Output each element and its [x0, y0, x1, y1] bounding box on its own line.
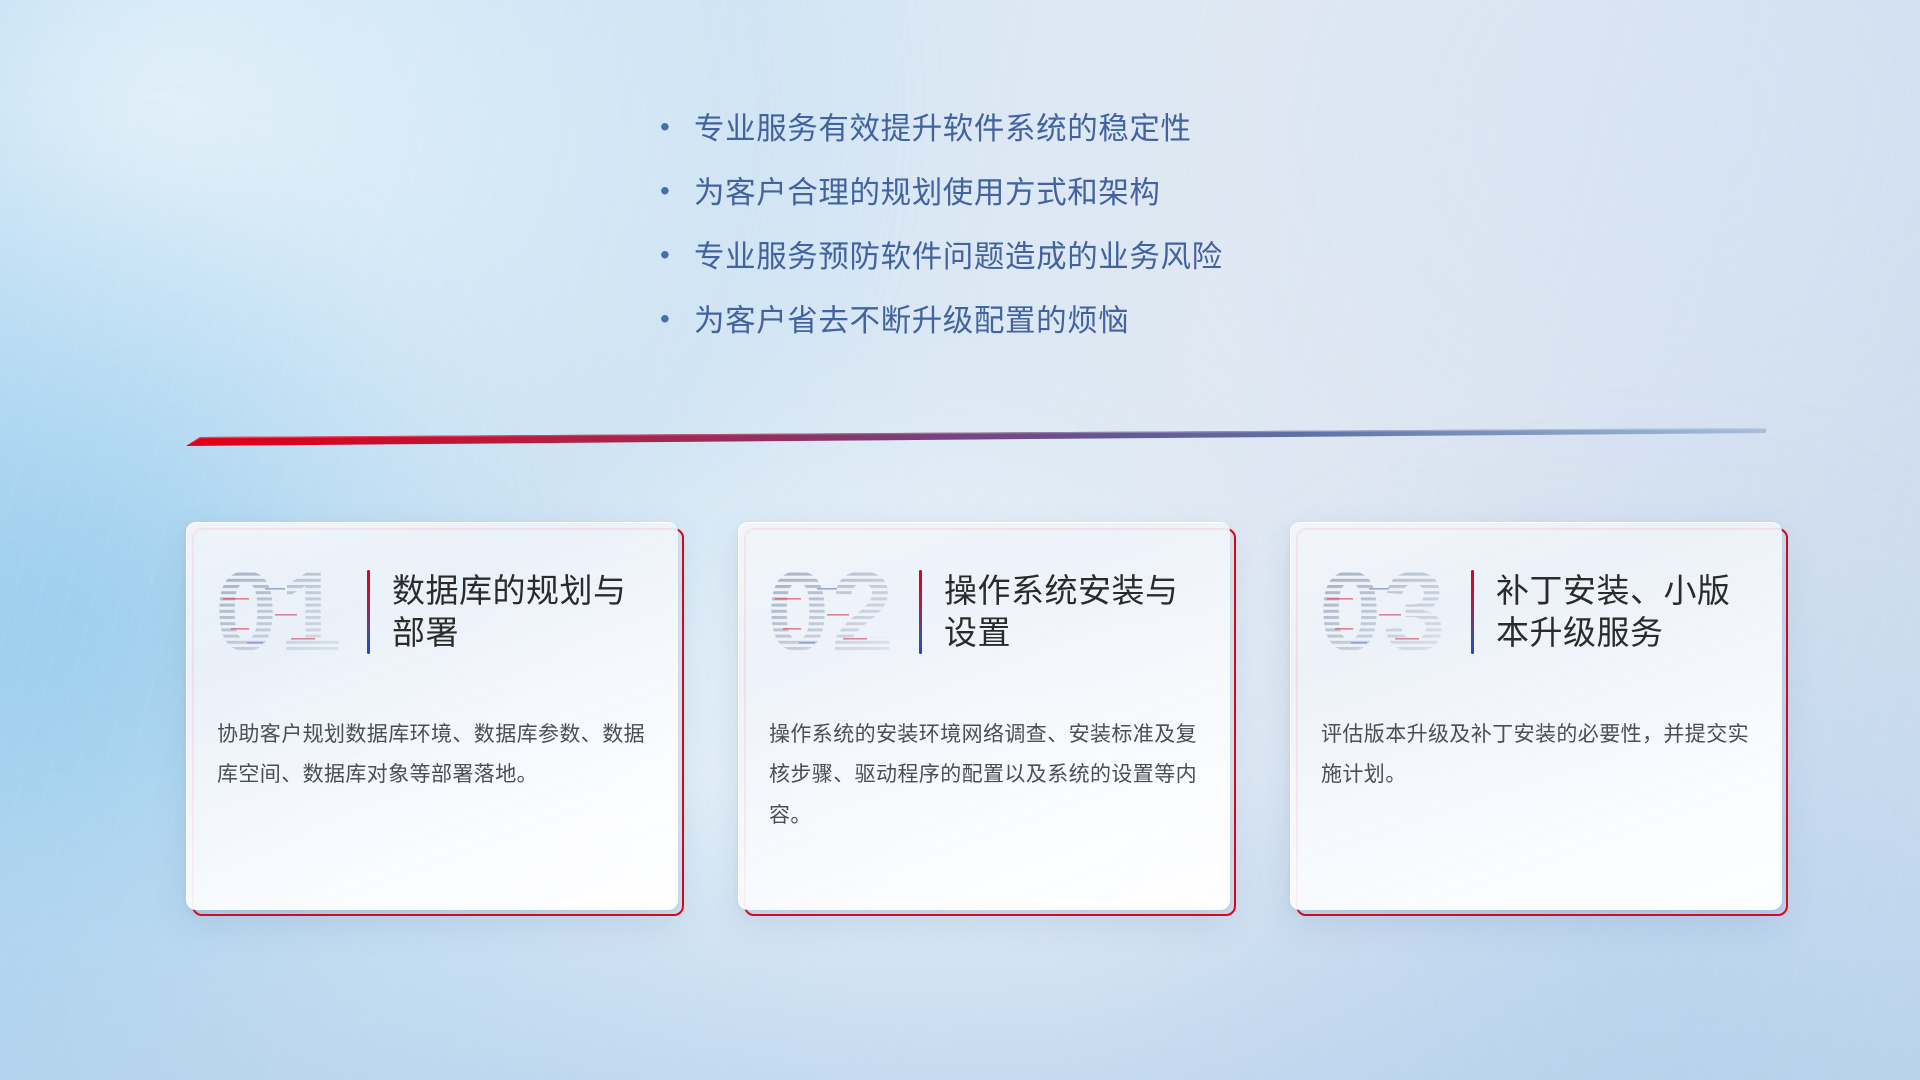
bullet-dot-icon: [660, 305, 694, 333]
bullet-label: 为客户合理的规划使用方式和架构: [694, 174, 1161, 212]
bullet-item: 专业服务有效提升软件系统的稳定性: [660, 110, 1540, 148]
card-header: 03 补丁安装、: [1291, 543, 1782, 681]
card-title: 补丁安装、小版本升级服务: [1496, 570, 1748, 654]
card-title: 操作系统安装与设置: [944, 570, 1196, 654]
service-card[interactable]: 02 操作系统安: [738, 522, 1230, 910]
bullet-label: 专业服务预防软件问题造成的业务风险: [694, 238, 1223, 276]
card-surface: 02 操作系统安: [738, 522, 1230, 910]
card-description: 评估版本升级及补丁安装的必要性，并提交实施计划。: [1321, 715, 1753, 796]
bullet-label: 为客户省去不断升级配置的烦恼: [694, 302, 1129, 340]
card-description: 操作系统的安装环境网络调查、安装标准及复核步骤、驱动程序的配置以及系统的设置等内…: [769, 715, 1201, 836]
card-divider-bar: [919, 570, 922, 654]
benefits-bullet-list: 专业服务有效提升软件系统的稳定性 为客户合理的规划使用方式和架构 专业服务预防软…: [660, 110, 1540, 367]
service-card[interactable]: 01 数据库的规: [186, 522, 678, 910]
card-number-glyph: 03: [1319, 554, 1448, 670]
card-description: 协助客户规划数据库环境、数据库参数、数据库空间、数据库对象等部署落地。: [217, 715, 649, 796]
section-divider: [186, 424, 1766, 454]
card-header: 01 数据库的规: [187, 543, 678, 681]
card-surface: 01 数据库的规: [186, 522, 678, 910]
bullet-dot-icon: [660, 241, 694, 269]
card-number-striped: 03: [1317, 554, 1465, 670]
bullet-item: 为客户合理的规划使用方式和架构: [660, 174, 1540, 212]
service-cards: 01 数据库的规: [186, 522, 1776, 922]
bullet-item: 为客户省去不断升级配置的烦恼: [660, 302, 1540, 340]
bullet-dot-icon: [660, 177, 694, 205]
slide-canvas: 专业服务有效提升软件系统的稳定性 为客户合理的规划使用方式和架构 专业服务预防软…: [0, 0, 1920, 1080]
card-number-striped: 01: [213, 554, 361, 670]
card-number-glyph: 01: [215, 554, 344, 670]
card-title: 数据库的规划与部署: [392, 570, 644, 654]
bullet-dot-icon: [660, 113, 694, 141]
card-number-striped: 02: [765, 554, 913, 670]
card-divider-bar: [367, 570, 370, 654]
card-divider-bar: [1471, 570, 1474, 654]
service-card[interactable]: 03 补丁安装、: [1290, 522, 1782, 910]
divider-rule-icon: [186, 424, 1766, 454]
card-surface: 03 补丁安装、: [1290, 522, 1782, 910]
bullet-item: 专业服务预防软件问题造成的业务风险: [660, 238, 1540, 276]
card-header: 02 操作系统安: [739, 543, 1230, 681]
card-number-glyph: 02: [767, 554, 896, 670]
bullet-label: 专业服务有效提升软件系统的稳定性: [694, 110, 1192, 148]
